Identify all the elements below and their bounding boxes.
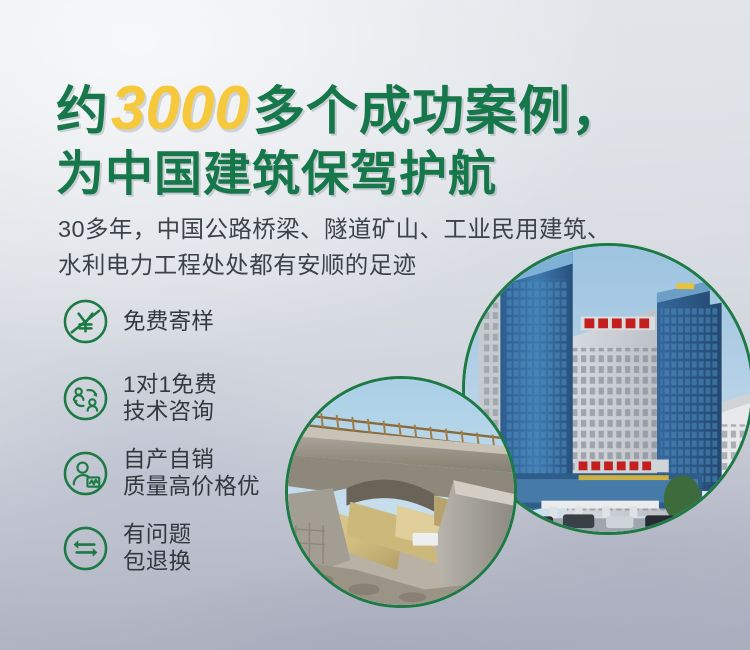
feature-label-line-2: 质量高价格优 bbox=[123, 474, 260, 499]
promo-banner: 约 3000 多个成功案例， 为中国建筑保驾护航 30多年，中国公路桥梁、隧道矿… bbox=[0, 0, 750, 650]
free-sample-icon bbox=[62, 298, 109, 345]
feature-label: 免费寄样 bbox=[123, 308, 214, 335]
feature-label: 1对1免费 技术咨询 bbox=[123, 371, 217, 426]
feature-item-free-sample[interactable]: 免费寄样 bbox=[62, 298, 260, 345]
headline-line-1: 约 3000 多个成功案例， bbox=[56, 78, 624, 140]
feature-label: 自产自销 质量高价格优 bbox=[123, 446, 260, 501]
feature-item-self-produce[interactable]: 自产自销 质量高价格优 bbox=[62, 446, 260, 501]
feature-label: 有问题 包退换 bbox=[123, 521, 191, 576]
subtitle-line-2: 水利电力工程处处都有安顺的足迹 bbox=[58, 248, 611, 284]
feature-label-line-1: 自产自销 bbox=[123, 447, 214, 472]
headline-line-2: 为中国建筑保驾护航 bbox=[56, 151, 624, 199]
one-to-one-consult-icon bbox=[62, 375, 109, 422]
headline-number: 3000 bbox=[109, 78, 253, 140]
feature-label-line-2: 包退换 bbox=[123, 549, 191, 574]
feature-label-line-1: 免费寄样 bbox=[123, 309, 214, 334]
feature-label-line-1: 1对1免费 bbox=[123, 372, 217, 397]
headline: 约 3000 多个成功案例， 为中国建筑保驾护航 bbox=[56, 78, 624, 199]
return-exchange-icon bbox=[62, 525, 109, 572]
feature-item-return-exchange[interactable]: 有问题 包退换 bbox=[62, 521, 260, 576]
subtitle-line-1: 30多年，中国公路桥梁、隧道矿山、工业民用建筑、 bbox=[58, 212, 611, 248]
feature-label-line-2: 技术咨询 bbox=[123, 399, 214, 424]
headline-suffix: 多个成功案例， bbox=[253, 86, 624, 138]
feature-label-line-1: 有问题 bbox=[123, 522, 191, 547]
self-produce-sell-icon bbox=[62, 450, 109, 497]
bridge-photo bbox=[285, 376, 517, 608]
feature-list: 免费寄样 bbox=[62, 298, 260, 598]
feature-item-consult[interactable]: 1对1免费 技术咨询 bbox=[62, 371, 260, 426]
headline-prefix: 约 bbox=[56, 86, 109, 138]
subtitle: 30多年，中国公路桥梁、隧道矿山、工业民用建筑、 水利电力工程处处都有安顺的足迹 bbox=[58, 212, 611, 283]
